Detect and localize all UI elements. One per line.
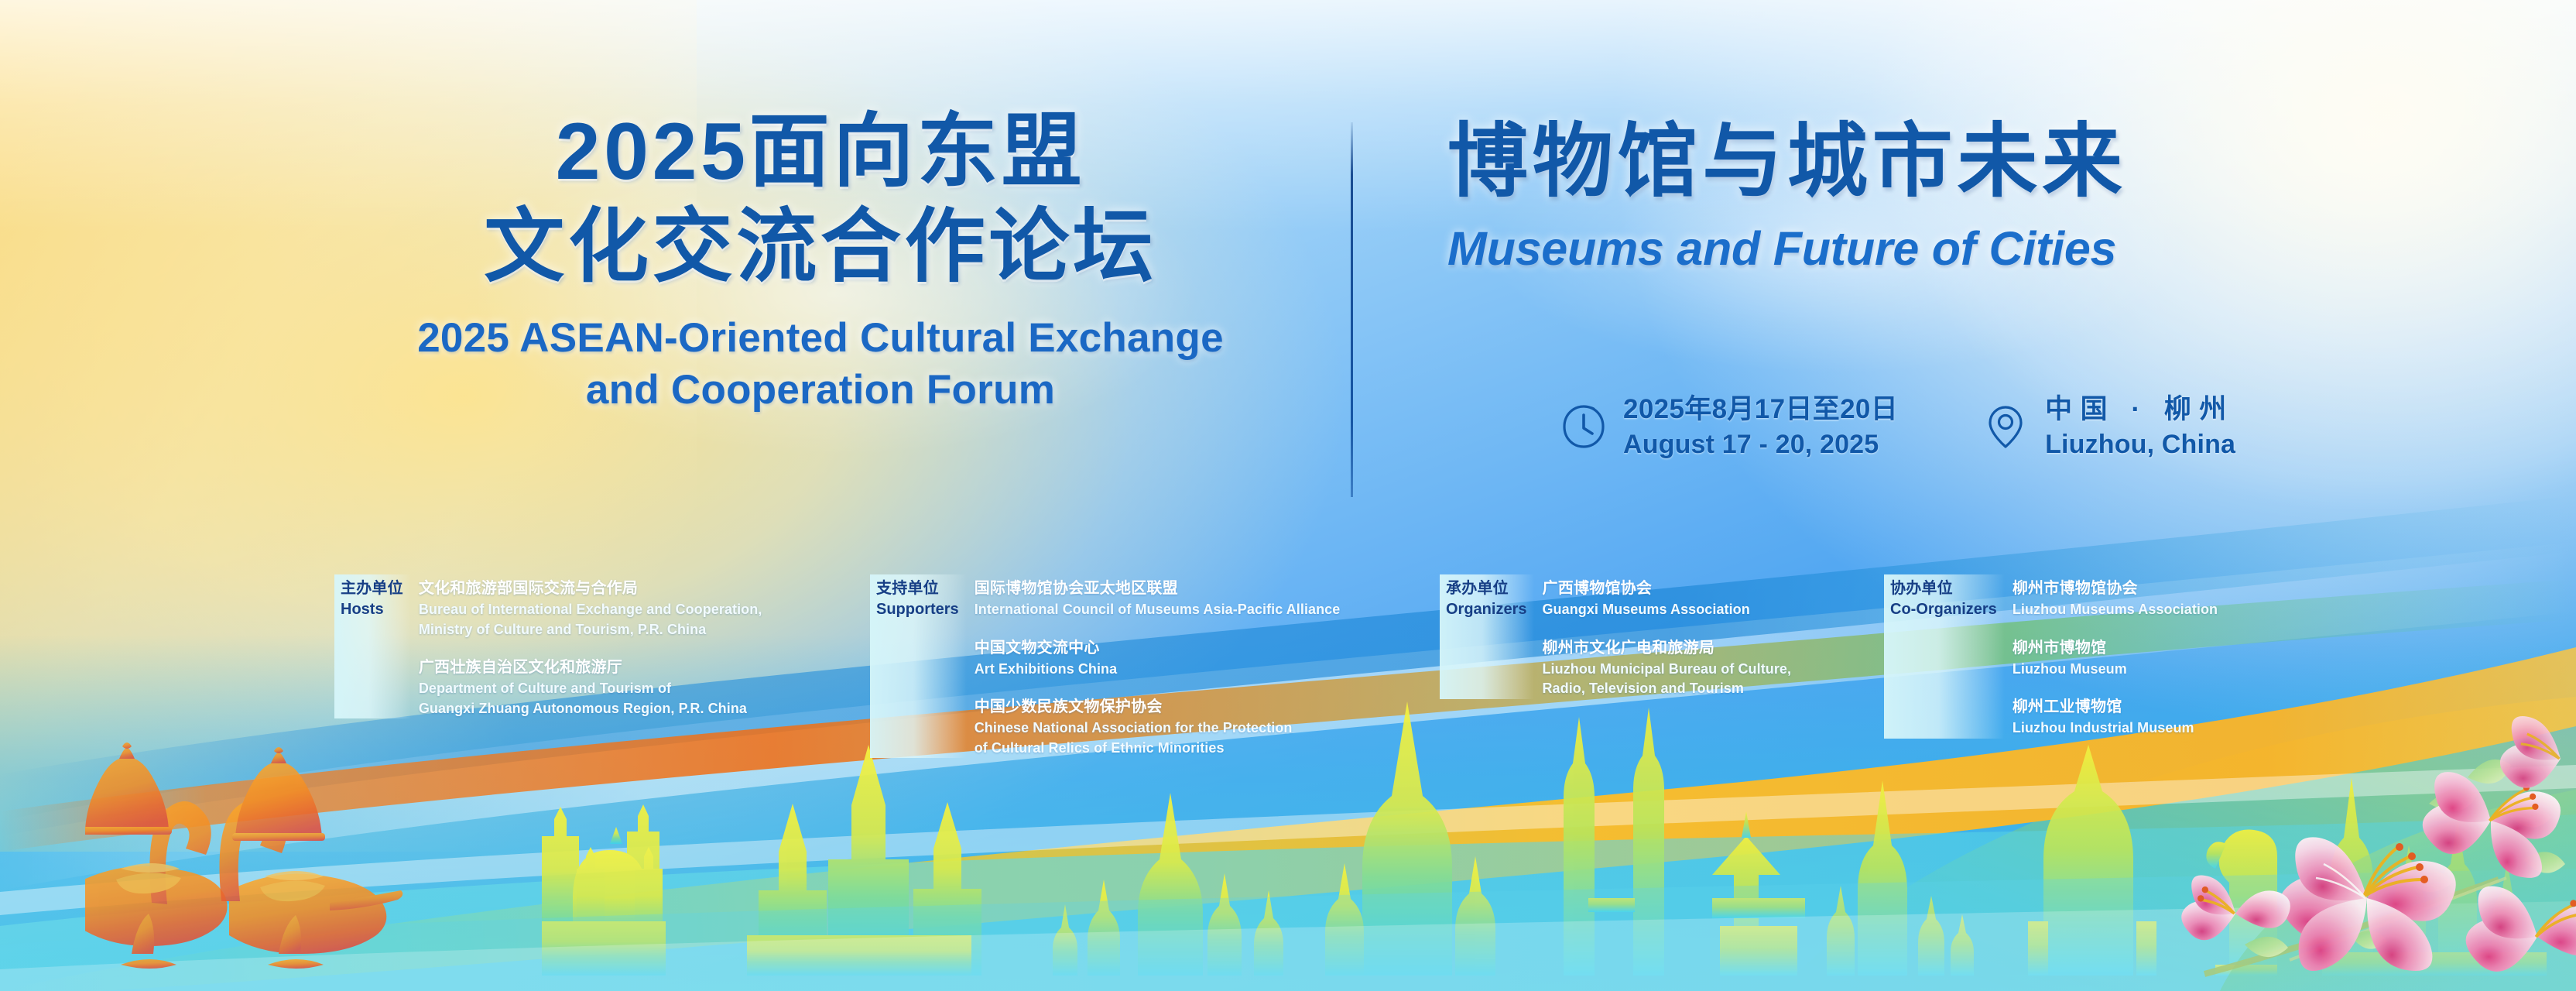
org-entries: 文化和旅游部国际交流与合作局Bureau of International Ex… (419, 574, 790, 718)
org-name-en: Department of Culture and Tourism ofGuan… (419, 679, 790, 718)
org-name-cn: 广西博物馆协会 (1542, 578, 1875, 600)
org-name-en: Liuzhou Industrial Museum (2012, 718, 2322, 739)
forum-title-left: 2025面向东盟 文化交流合作论坛 2025 ASEAN-Oriented Cu… (310, 105, 1331, 415)
map-pin-icon (1982, 403, 2030, 451)
org-group-supporters: 支持单位Supporters国际博物馆协会亚太地区联盟International… (870, 574, 1408, 758)
organization-list: 主办单位Hosts文化和旅游部国际交流与合作局Bureau of Interna… (0, 574, 2576, 753)
title-en-line-1: 2025 ASEAN-Oriented Cultural Exchange (310, 314, 1331, 363)
event-location-en: Liuzhou, China (2045, 429, 2235, 460)
event-location-cn: 中国 · 柳州 (2045, 393, 2235, 425)
org-entry: 广西壮族自治区文化和旅游厅Department of Culture and T… (419, 657, 790, 718)
title-divider (1351, 122, 1353, 497)
org-entry: 国际博物馆协会亚太地区联盟International Council of Mu… (975, 578, 1408, 620)
org-entry: 柳州工业博物馆Liuzhou Industrial Museum (2012, 696, 2322, 739)
org-name-cn: 柳州工业博物馆 (2012, 696, 2322, 718)
org-name-cn: 中国文物交流中心 (975, 637, 1408, 660)
org-name-en: Liuzhou Museums Association (2012, 600, 2322, 620)
org-entry: 中国文物交流中心Art Exhibitions China (975, 637, 1408, 680)
title-en-line-2: and Cooperation Forum (310, 366, 1331, 415)
org-name-en: Liuzhou Municipal Bureau of Culture,Radi… (1542, 660, 1875, 699)
org-entries: 柳州市博物馆协会Liuzhou Museums Association柳州市博物… (2012, 574, 2322, 739)
org-entry: 中国少数民族文物保护协会Chinese National Association… (975, 696, 1408, 758)
org-name-cn: 柳州市文化广电和旅游局 (1542, 637, 1875, 660)
theme-cn: 博物馆与城市未来 (1447, 118, 2407, 206)
org-role-en: Supporters (876, 600, 959, 619)
org-entry: 广西博物馆协会Guangxi Museums Association (1542, 578, 1875, 620)
title-cn-line-1: 2025面向东盟 (310, 105, 1331, 200)
org-entry: 柳州市博物馆Liuzhou Museum (2012, 637, 2322, 680)
org-group-organizers: 承办单位Organizers广西博物馆协会Guangxi Museums Ass… (1440, 574, 1875, 699)
org-entries: 广西博物馆协会Guangxi Museums Association柳州市文化广… (1542, 574, 1875, 699)
org-role-en: Co-Organizers (1890, 600, 1997, 619)
org-role-cn: 主办单位 (341, 579, 403, 598)
org-entry: 柳州市文化广电和旅游局Liuzhou Municipal Bureau of C… (1542, 637, 1875, 699)
org-name-en: Liuzhou Museum (2012, 660, 2322, 680)
org-role-badge: 协办单位Co-Organizers (1884, 574, 2005, 739)
event-date-en: August 17 - 20, 2025 (1623, 429, 1898, 460)
event-meta: 2025年8月17日至20日 August 17 - 20, 2025 中国 ·… (1560, 393, 2235, 460)
org-name-en: Chinese National Association for the Pro… (975, 718, 1408, 758)
org-role-en: Hosts (341, 600, 403, 619)
event-date-cn: 2025年8月17日至20日 (1623, 393, 1898, 425)
org-name-cn: 文化和旅游部国际交流与合作局 (419, 578, 790, 600)
org-group-co-organizers: 协办单位Co-Organizers柳州市博物馆协会Liuzhou Museums… (1884, 574, 2322, 739)
poster-canvas: 2025面向东盟 文化交流合作论坛 2025 ASEAN-Oriented Cu… (0, 0, 2576, 991)
org-role-badge: 承办单位Organizers (1440, 574, 1534, 699)
org-role-cn: 协办单位 (1890, 579, 1997, 598)
clock-icon (1560, 403, 1608, 451)
background-right-highlight (1725, 0, 2576, 588)
org-name-cn: 国际博物馆协会亚太地区联盟 (975, 578, 1408, 600)
theme-en: Museums and Future of Cities (1447, 223, 2407, 275)
org-role-cn: 承办单位 (1446, 579, 1526, 598)
org-name-cn: 中国少数民族文物保护协会 (975, 696, 1408, 718)
forum-theme-right: 博物馆与城市未来 Museums and Future of Cities (1447, 118, 2407, 275)
org-role-badge: 支持单位Supporters (870, 574, 967, 758)
org-entries: 国际博物馆协会亚太地区联盟International Council of Mu… (975, 574, 1408, 758)
org-name-cn: 柳州市博物馆 (2012, 637, 2322, 660)
org-name-en: Art Exhibitions China (975, 660, 1408, 680)
org-name-en: Guangxi Museums Association (1542, 600, 1875, 620)
org-role-cn: 支持单位 (876, 579, 959, 598)
oil-lamp-pair-icon (85, 728, 410, 991)
org-role-en: Organizers (1446, 600, 1526, 619)
org-entry: 柳州市博物馆协会Liuzhou Museums Association (2012, 578, 2322, 620)
event-location: 中国 · 柳州 Liuzhou, China (1982, 393, 2235, 460)
org-name-en: International Council of Museums Asia-Pa… (975, 600, 1408, 620)
event-date: 2025年8月17日至20日 August 17 - 20, 2025 (1560, 393, 1898, 460)
org-group-hosts: 主办单位Hosts文化和旅游部国际交流与合作局Bureau of Interna… (334, 574, 790, 718)
org-role-badge: 主办单位Hosts (334, 574, 411, 718)
org-name-cn: 广西壮族自治区文化和旅游厅 (419, 657, 790, 679)
org-name-en: Bureau of International Exchange and Coo… (419, 600, 790, 640)
title-cn-line-2: 文化交流合作论坛 (310, 200, 1331, 295)
org-name-cn: 柳州市博物馆协会 (2012, 578, 2322, 600)
org-entry: 文化和旅游部国际交流与合作局Bureau of International Ex… (419, 578, 790, 640)
